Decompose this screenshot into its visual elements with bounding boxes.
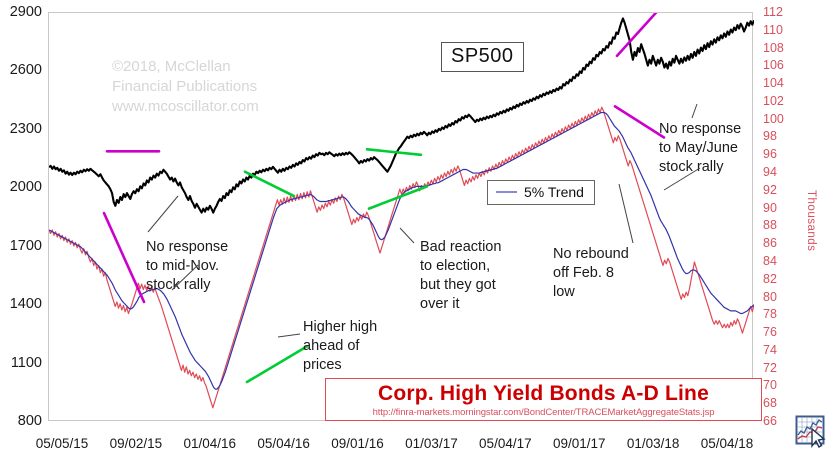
left-axis-tick-2: 1400 xyxy=(0,297,42,312)
x-axis-tick-4: 09/01/16 xyxy=(331,437,384,451)
right-axis-tick-18: 102 xyxy=(763,95,784,108)
left-axis-tick-6: 2600 xyxy=(0,63,42,78)
left-axis-tick-1: 1100 xyxy=(0,355,42,370)
left-axis-tick-7: 2900 xyxy=(0,5,42,20)
chart-cursor-icon[interactable] xyxy=(795,415,828,448)
annotation-bad-reaction-election: Bad reaction to election, but they got o… xyxy=(420,238,501,314)
right-axis-tick-6: 78 xyxy=(763,308,777,321)
annotation-higher-high-ahead: Higher high ahead of prices xyxy=(303,318,377,375)
right-axis-tick-10: 86 xyxy=(763,237,777,250)
x-axis-tick-3: 05/04/16 xyxy=(257,437,310,451)
right-axis-tick-21: 108 xyxy=(763,41,784,54)
x-axis-tick-2: 01/04/16 xyxy=(183,437,236,451)
right-axis-title: Thousands xyxy=(805,190,817,251)
right-axis-tick-23: 112 xyxy=(763,6,783,19)
annotation-no-response-mid-nov: No response to mid-Nov. stock rally xyxy=(146,238,228,295)
x-axis-tick-0: 05/05/15 xyxy=(36,437,89,451)
trendline-adline-down-2018 xyxy=(615,106,664,137)
left-axis-tick-3: 1700 xyxy=(0,238,42,253)
left-axis-tick-5: 2300 xyxy=(0,122,42,137)
annotation-no-rebound-feb8: No rebound off Feb. 8 low xyxy=(553,245,629,302)
right-axis-tick-15: 96 xyxy=(763,148,777,161)
trendline-sp500-down-2016 xyxy=(367,149,421,154)
right-axis-tick-17: 100 xyxy=(763,112,784,125)
right-axis-tick-22: 110 xyxy=(763,24,783,37)
x-axis-tick-5: 01/03/17 xyxy=(405,437,458,451)
chart-title: Corp. High Yield Bonds A-D Line xyxy=(326,382,761,406)
sp500-label-badge: SP500 xyxy=(441,42,524,72)
right-axis-tick-1: 68 xyxy=(763,397,777,410)
trend-line-swatch-icon xyxy=(496,191,517,193)
copyright-watermark: ©2018, McClellan Financial Publications … xyxy=(112,57,259,117)
chart-title-box: Corp. High Yield Bonds A-D Line http://f… xyxy=(325,378,762,421)
chart-source-url: http://finra-markets.morningstar.com/Bon… xyxy=(326,406,761,419)
right-axis-tick-13: 92 xyxy=(763,184,777,197)
x-axis-tick-8: 01/03/18 xyxy=(627,437,680,451)
right-axis-tick-8: 82 xyxy=(763,272,777,285)
right-axis-tick-14: 94 xyxy=(763,166,777,179)
stock-chart: 8001100140017002000230026002900 66687072… xyxy=(0,0,833,465)
x-axis-tick-1: 09/02/15 xyxy=(110,437,163,451)
right-axis-tick-19: 104 xyxy=(763,77,784,90)
right-axis-tick-7: 80 xyxy=(763,290,777,303)
right-axis-tick-9: 84 xyxy=(763,255,777,268)
right-axis-tick-12: 90 xyxy=(763,201,777,214)
right-axis-tick-4: 74 xyxy=(763,344,777,357)
right-axis-tick-0: 66 xyxy=(763,415,777,428)
x-axis-tick-6: 05/04/17 xyxy=(479,437,532,451)
right-axis-tick-3: 72 xyxy=(763,361,777,374)
trendline-sp500-down-early2016 xyxy=(245,172,294,196)
right-axis-tick-5: 76 xyxy=(763,326,777,339)
annotation-no-response-may-june: No response to May/June stock rally xyxy=(659,120,741,177)
x-axis-tick-9: 05/04/18 xyxy=(701,437,754,451)
right-axis-tick-11: 88 xyxy=(763,219,777,232)
left-axis-tick-4: 2000 xyxy=(0,180,42,195)
x-axis-tick-7: 09/01/17 xyxy=(553,437,606,451)
trendline-adline-up-2016 xyxy=(247,346,307,382)
left-axis-tick-0: 800 xyxy=(0,414,42,429)
right-axis-tick-2: 70 xyxy=(763,379,777,392)
right-axis-tick-20: 106 xyxy=(763,59,784,72)
right-axis-tick-16: 98 xyxy=(763,130,777,143)
legend: 5% Trend xyxy=(487,180,595,205)
legend-label-5pct-trend: 5% Trend xyxy=(524,184,584,200)
